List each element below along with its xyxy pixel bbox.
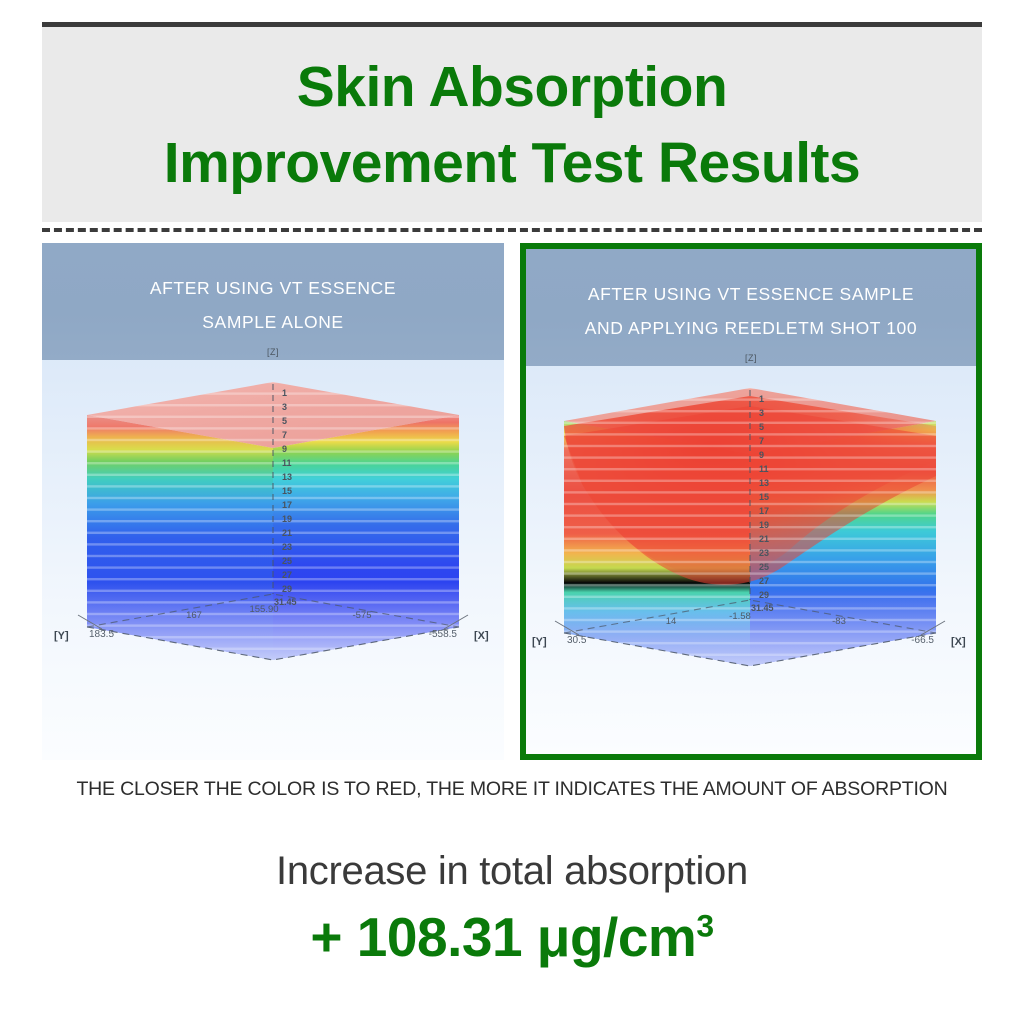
svg-text:25: 25 xyxy=(759,562,769,572)
panel-before-caption: AFTER USING VT ESSENCE SAMPLE ALONE [Z] xyxy=(42,243,504,360)
page-title-line-1: Skin Absorption xyxy=(297,49,728,125)
plot-before-y-axis-label: [Y] xyxy=(54,630,69,642)
summary-block: Increase in total absorption + 108.31 μg… xyxy=(0,845,1024,973)
plot-after: 1 3 5 7 9 11 13 15 17 19 21 23 2 xyxy=(526,366,976,754)
plot-before-inner-right-value: -575 xyxy=(352,610,371,621)
summary-value-exponent: 3 xyxy=(696,908,713,944)
svg-text:13: 13 xyxy=(282,472,292,482)
panel-after-z-axis-label: [Z] xyxy=(526,353,976,363)
svg-text:17: 17 xyxy=(759,506,769,516)
infographic-page: Skin Absorption Improvement Test Results… xyxy=(0,0,1024,1024)
header-band: Skin Absorption Improvement Test Results xyxy=(42,27,982,222)
svg-text:1: 1 xyxy=(759,394,764,404)
plot-after-y-axis-label: [Y] xyxy=(532,636,547,648)
svg-text:5: 5 xyxy=(282,416,287,426)
svg-text:15: 15 xyxy=(759,492,769,502)
plot-after-origin-value: -1.58 xyxy=(729,611,751,622)
svg-text:25: 25 xyxy=(282,556,292,566)
plot-before: 1 3 5 7 9 11 13 15 17 19 21 23 2 xyxy=(42,360,504,760)
svg-text:21: 21 xyxy=(282,528,292,538)
plot-before-origin-value: 155.90 xyxy=(249,604,278,615)
summary-value: + 108.31 μg/cm3 xyxy=(0,901,1024,973)
page-title-line-2: Improvement Test Results xyxy=(164,125,860,201)
svg-text:27: 27 xyxy=(759,576,769,586)
svg-text:27: 27 xyxy=(282,570,292,580)
summary-label: Increase in total absorption xyxy=(0,845,1024,897)
plot-after-y-axis-value: 30.5 xyxy=(567,635,587,646)
svg-text:31.45: 31.45 xyxy=(751,603,774,613)
svg-text:19: 19 xyxy=(759,520,769,530)
legend-note: THE CLOSER THE COLOR IS TO RED, THE MORE… xyxy=(0,778,1024,801)
plot-after-inner-left-value: 14 xyxy=(666,616,677,627)
svg-text:3: 3 xyxy=(759,408,764,418)
svg-text:23: 23 xyxy=(759,548,769,558)
plot-before-y-axis-value: 183.5 xyxy=(89,629,114,640)
plot-before-svg: 1 3 5 7 9 11 13 15 17 19 21 23 2 xyxy=(42,360,504,760)
plot-before-inner-left-value: 167 xyxy=(186,610,202,621)
svg-text:11: 11 xyxy=(282,458,292,468)
svg-text:29: 29 xyxy=(759,590,769,600)
svg-text:21: 21 xyxy=(759,534,769,544)
svg-text:15: 15 xyxy=(282,486,292,496)
plot-after-x-axis-value: -66.5 xyxy=(911,635,934,646)
panel-before-inner: AFTER USING VT ESSENCE SAMPLE ALONE [Z] xyxy=(42,243,504,760)
panel-after-caption-line-2: AND APPLYING REEDLETM SHOT 100 xyxy=(585,311,917,345)
svg-text:17: 17 xyxy=(282,500,292,510)
plot-after-svg: 1 3 5 7 9 11 13 15 17 19 21 23 2 xyxy=(526,366,976,754)
svg-text:9: 9 xyxy=(759,450,764,460)
panel-after-inner: AFTER USING VT ESSENCE SAMPLE AND APPLYI… xyxy=(526,249,976,754)
plot-before-x-axis-value: -558.5 xyxy=(429,629,458,640)
dashed-divider xyxy=(42,228,982,232)
svg-text:19: 19 xyxy=(282,514,292,524)
svg-text:11: 11 xyxy=(759,464,769,474)
summary-value-text: + 108.31 μg/cm xyxy=(310,906,696,968)
svg-text:1: 1 xyxy=(282,388,287,398)
panel-before-z-axis-label: [Z] xyxy=(42,347,504,357)
svg-text:3: 3 xyxy=(282,402,287,412)
panel-before: AFTER USING VT ESSENCE SAMPLE ALONE [Z] xyxy=(42,243,504,760)
panel-after-caption: AFTER USING VT ESSENCE SAMPLE AND APPLYI… xyxy=(526,249,976,366)
svg-text:29: 29 xyxy=(282,584,292,594)
svg-text:5: 5 xyxy=(759,422,764,432)
panel-after-caption-line-1: AFTER USING VT ESSENCE SAMPLE xyxy=(588,277,914,311)
plot-after-x-axis-label: [X] xyxy=(951,636,966,648)
panel-after: AFTER USING VT ESSENCE SAMPLE AND APPLYI… xyxy=(520,243,982,760)
svg-text:7: 7 xyxy=(759,436,764,446)
svg-text:13: 13 xyxy=(759,478,769,488)
svg-text:7: 7 xyxy=(282,430,287,440)
panel-before-caption-line-2: SAMPLE ALONE xyxy=(202,305,343,339)
panel-before-caption-line-1: AFTER USING VT ESSENCE xyxy=(150,271,396,305)
svg-text:9: 9 xyxy=(282,444,287,454)
plot-before-x-axis-label: [X] xyxy=(474,630,489,642)
comparison-panels: AFTER USING VT ESSENCE SAMPLE ALONE [Z] xyxy=(42,243,982,760)
svg-text:23: 23 xyxy=(282,542,292,552)
plot-after-inner-right-value: -83 xyxy=(832,616,846,627)
